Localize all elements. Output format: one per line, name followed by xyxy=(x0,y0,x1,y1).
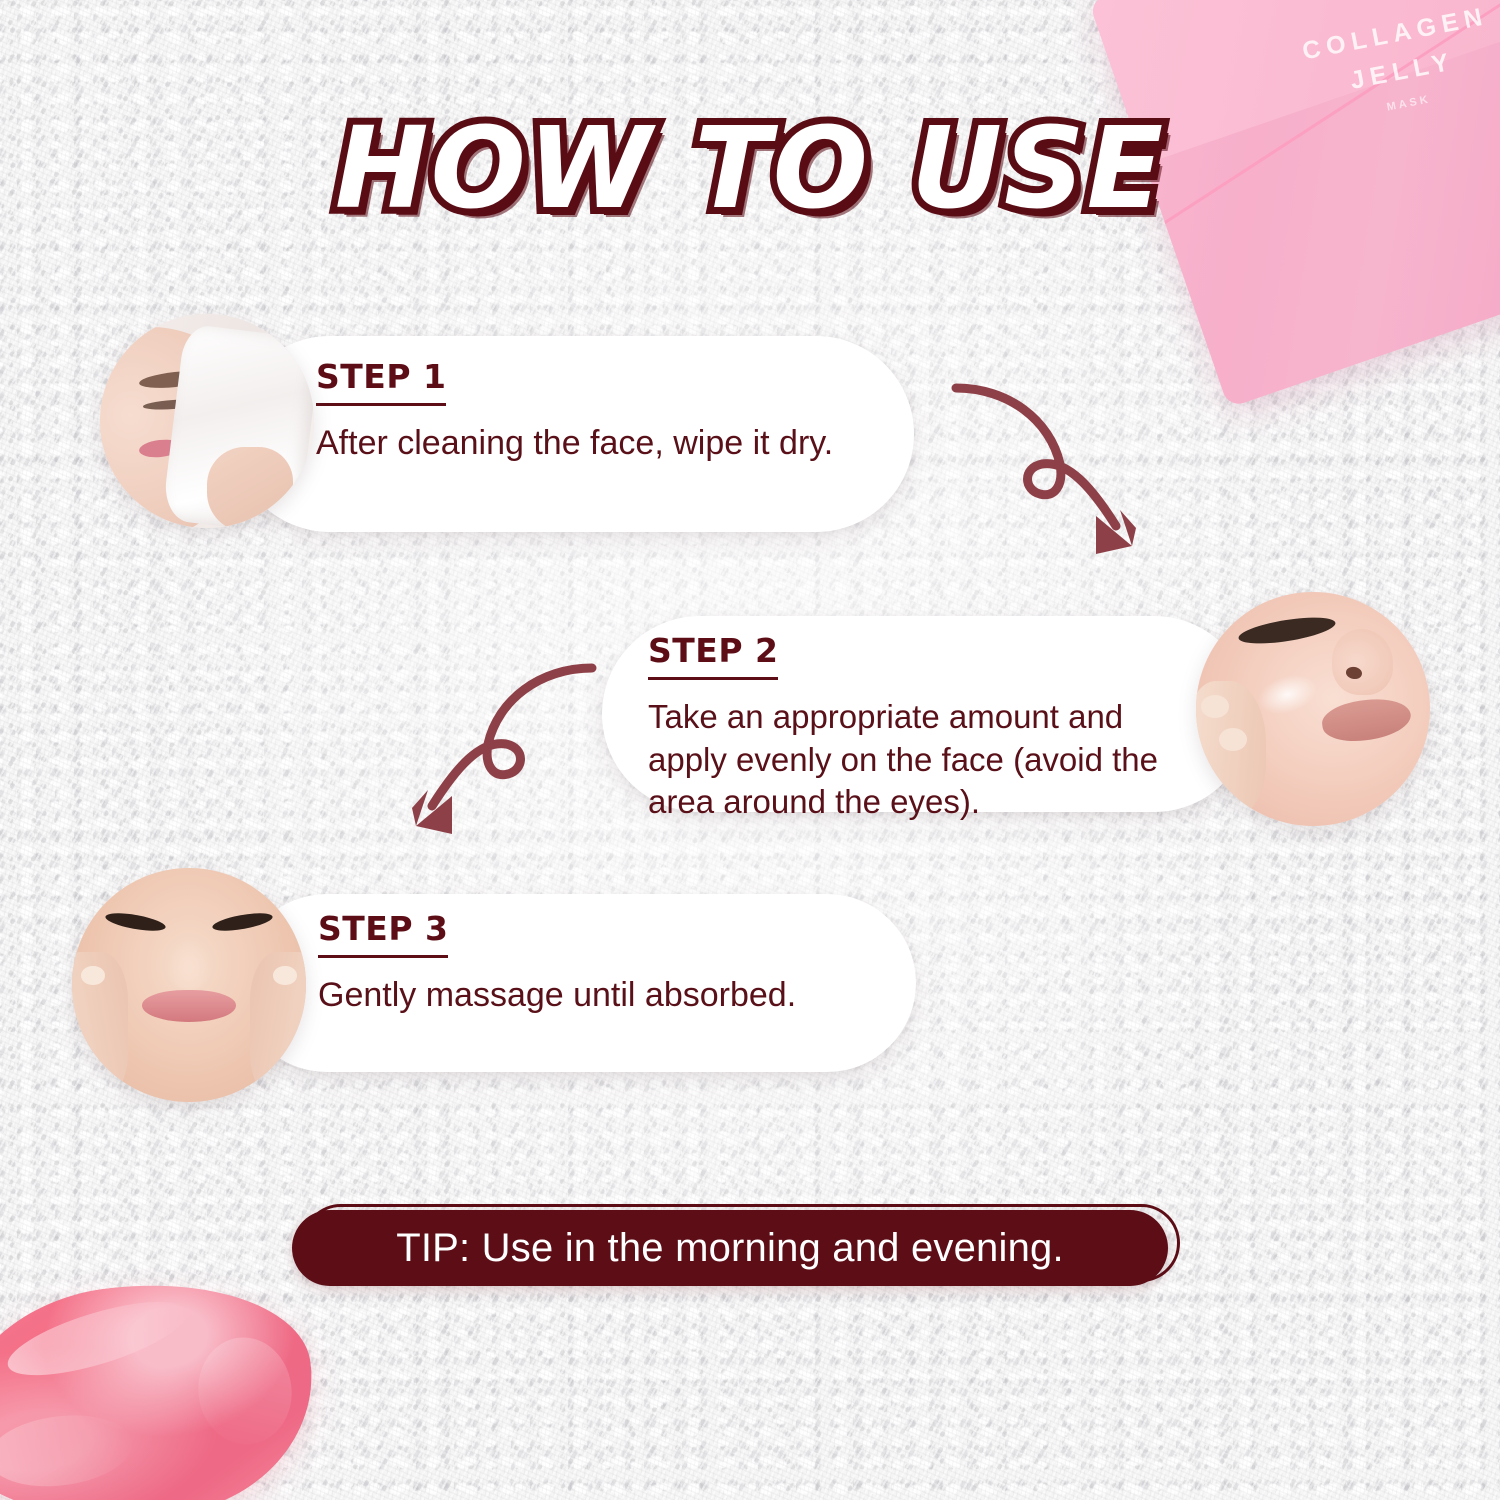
step-3-card: STEP 3 Gently massage until absorbed. xyxy=(238,894,916,1072)
step-2-card: STEP 2 Take an appropriate amount and ap… xyxy=(602,616,1252,812)
step-2-label: STEP 2 xyxy=(648,634,778,680)
photo2-nose xyxy=(1332,629,1393,695)
photo3-nose xyxy=(166,938,213,989)
tip-banner-text: TIP: Use in the morning and evening. xyxy=(396,1226,1064,1271)
tip-banner: TIP: Use in the morning and evening. xyxy=(292,1204,1182,1290)
step-2-body: STEP 2 Take an appropriate amount and ap… xyxy=(648,634,1208,824)
photo3-left-nail xyxy=(81,966,104,985)
step-3-photo-inner xyxy=(72,868,306,1102)
step-3-text: Gently massage until absorbed. xyxy=(318,974,878,1018)
step-2-photo-inner xyxy=(1196,592,1430,826)
photo3-right-nail xyxy=(273,966,296,985)
step-1-body: STEP 1 After cleaning the face, wipe it … xyxy=(316,360,876,465)
step-3-photo xyxy=(72,868,306,1102)
poster-canvas: COLLAGEN JELLY MASK HOW TO USE STEP 1 Af… xyxy=(0,0,1500,1500)
step-1-text: After cleaning the face, wipe it dry. xyxy=(316,422,876,466)
step-2-text: Take an appropriate amount and apply eve… xyxy=(648,696,1208,825)
step-1-photo-inner xyxy=(100,314,314,528)
gel-highlight-2 xyxy=(0,1407,136,1494)
step-1-photo xyxy=(100,314,314,528)
step-2-photo xyxy=(1196,592,1430,826)
page-title: HOW TO USE xyxy=(0,104,1500,234)
photo1-hand xyxy=(207,447,293,528)
step-3-label: STEP 3 xyxy=(318,912,448,958)
gel-highlight-3 xyxy=(192,1332,298,1449)
step-1-label: STEP 1 xyxy=(316,360,446,406)
step-1-card: STEP 1 After cleaning the face, wipe it … xyxy=(232,336,914,532)
step-3-body: STEP 3 Gently massage until absorbed. xyxy=(318,912,878,1017)
tip-banner-pill: TIP: Use in the morning and evening. xyxy=(292,1210,1168,1286)
photo2-nail-1 xyxy=(1201,695,1229,718)
